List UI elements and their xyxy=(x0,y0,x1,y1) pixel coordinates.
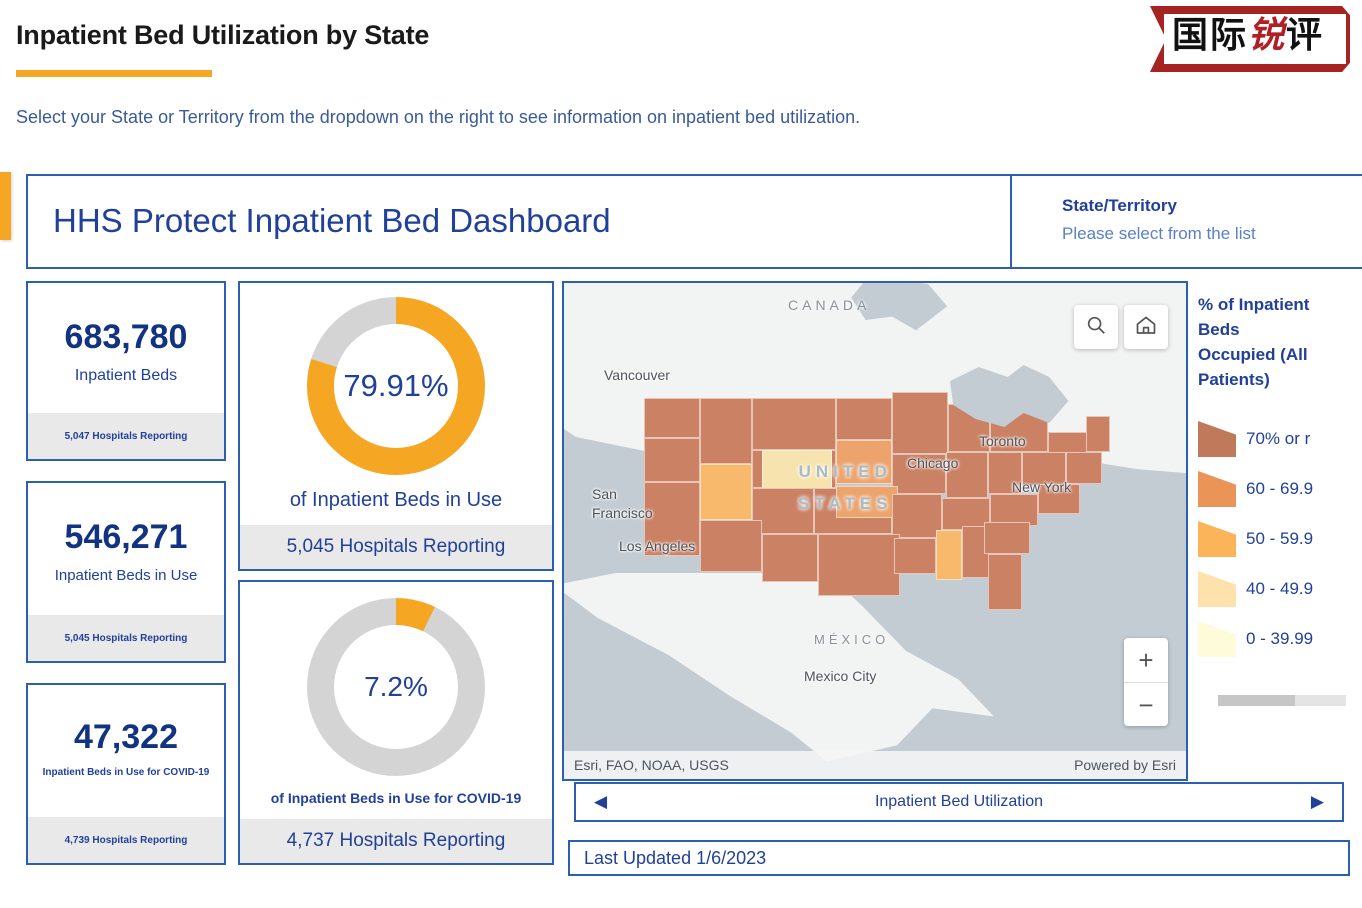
logo-text-accent: 锐 xyxy=(1248,15,1286,56)
state-pa[interactable] xyxy=(1066,452,1102,484)
donut-percent-label: 7.2% xyxy=(364,671,428,703)
state-nd[interactable] xyxy=(836,398,892,440)
map-home-button[interactable] xyxy=(1124,305,1168,349)
legend-swatch-icon xyxy=(1198,571,1236,607)
kpi-card-inpatient-beds: 683,780 Inpatient Beds 5,047 Hospitals R… xyxy=(26,281,226,461)
map-city-los-angeles: Los Angeles xyxy=(619,538,695,554)
kpi-value: 546,271 xyxy=(28,518,224,557)
state-mt[interactable] xyxy=(752,398,836,450)
page-title: Inpatient Bed Utilization by State xyxy=(16,20,429,51)
kpi-footer: 5,045 Hospitals Reporting xyxy=(28,615,224,661)
map-zoom-in-button[interactable]: + xyxy=(1124,638,1168,683)
map-legend: % of Inpatient Beds Occupied (All Patien… xyxy=(1198,292,1356,712)
map-search-button[interactable] xyxy=(1074,305,1118,349)
legend-swatch-icon xyxy=(1198,621,1236,657)
donut-chart: 7.2% xyxy=(307,598,485,776)
state-territory-dropdown[interactable]: State/Territory Please select from the l… xyxy=(1010,174,1362,269)
last-updated-text: Last Updated 1/6/2023 xyxy=(584,848,766,869)
map-attribution-sources: Esri, FAO, NOAA, USGS xyxy=(574,757,729,773)
map-city-san-francisco: San Francisco xyxy=(592,485,653,523)
kpi-footer: 5,047 Hospitals Reporting xyxy=(28,413,224,459)
legend-label: 0 - 39.99 xyxy=(1246,629,1313,649)
logo-text: 国际锐评 xyxy=(1172,16,1324,56)
legend-horizontal-scrollbar[interactable] xyxy=(1218,695,1346,706)
legend-item[interactable]: 70% or r xyxy=(1198,414,1356,464)
title-underline-rule xyxy=(16,70,212,77)
kpi-footer: 4,739 Hospitals Reporting xyxy=(28,817,224,863)
donut-card-beds-in-use: 79.91% of Inpatient Beds in Use 5,045 Ho… xyxy=(238,281,554,571)
donut-hole: 79.91% xyxy=(334,324,458,448)
map-city-new-york: New York xyxy=(1012,479,1071,495)
legend-label: 60 - 69.9 xyxy=(1246,479,1313,499)
logo-text-part1: 国际 xyxy=(1172,15,1248,56)
map-label-united-states: UNITED STATES xyxy=(798,456,893,520)
chevron-left-icon[interactable]: ◀ xyxy=(594,792,607,812)
donut-footer: 4,737 Hospitals Reporting xyxy=(240,819,552,863)
state-tx[interactable] xyxy=(818,534,900,596)
legend-item[interactable]: 0 - 39.99 xyxy=(1198,614,1356,664)
map-city-toronto: Toronto xyxy=(979,433,1026,449)
legend-label: 50 - 59.9 xyxy=(1246,529,1313,549)
page-subtitle: Select your State or Territory from the … xyxy=(16,107,860,128)
donut-card-covid-beds-in-use: 7.2% of Inpatient Beds in Use for COVID-… xyxy=(238,580,554,865)
legend-label: 40 - 49.9 xyxy=(1246,579,1313,599)
state-wa[interactable] xyxy=(644,398,700,438)
map-city-vancouver: Vancouver xyxy=(604,367,670,383)
search-icon xyxy=(1085,314,1107,341)
state-me[interactable] xyxy=(1086,416,1110,452)
state-nc-sc[interactable] xyxy=(984,522,1030,554)
state-territory-value: Please select from the list xyxy=(1062,224,1256,244)
legend-title: % of Inpatient Beds Occupied (All Patien… xyxy=(1198,292,1318,392)
donut-chart: 79.91% xyxy=(307,297,485,475)
legend-item[interactable]: 50 - 59.9 xyxy=(1198,514,1356,564)
legend-swatch-icon xyxy=(1198,521,1236,557)
kpi-value: 683,780 xyxy=(28,318,224,357)
donut-chart-wrap: 7.2% xyxy=(240,598,552,776)
legend-swatch-icon xyxy=(1198,471,1236,507)
state-id[interactable] xyxy=(700,398,752,464)
legend-swatch-icon xyxy=(1198,421,1236,457)
kpi-value: 47,322 xyxy=(28,718,224,757)
dashboard-header-panel: HHS Protect Inpatient Bed Dashboard Stat… xyxy=(26,174,1362,269)
state-nm[interactable] xyxy=(762,534,818,582)
map-attribution-powered-by: Powered by Esri xyxy=(1074,757,1176,773)
legend-item[interactable]: 40 - 49.9 xyxy=(1198,564,1356,614)
state-ms[interactable] xyxy=(936,530,962,580)
legend-items: 70% or r 60 - 69.9 50 - 59.9 40 - 49.9 0… xyxy=(1198,414,1356,664)
state-ar-la[interactable] xyxy=(894,538,936,574)
kpi-label: Inpatient Beds xyxy=(28,367,224,385)
map-city-chicago: Chicago xyxy=(907,455,958,471)
map-label-mexico: MÉXICO xyxy=(814,632,889,647)
side-accent-tab xyxy=(0,172,11,240)
map-canvas[interactable]: CANADA MÉXICO UNITED STATES Vancouver To… xyxy=(564,283,1186,779)
map-attribution-bar: Esri, FAO, NOAA, USGS Powered by Esri xyxy=(564,751,1186,779)
donut-caption: of Inpatient Beds in Use xyxy=(240,489,552,512)
map-label-us-line1: UNITED xyxy=(799,462,892,481)
kpi-label: Inpatient Beds in Use xyxy=(28,567,224,584)
brand-logo: 国际锐评 xyxy=(1150,6,1350,72)
kpi-card-inpatient-beds-in-use: 546,271 Inpatient Beds in Use 5,045 Hosp… xyxy=(26,481,226,663)
state-nv[interactable] xyxy=(700,464,752,520)
donut-footer: 5,045 Hospitals Reporting xyxy=(240,525,552,569)
map-city-mexico-city: Mexico City xyxy=(804,668,876,684)
legend-scrollbar-thumb[interactable] xyxy=(1218,695,1295,706)
legend-item[interactable]: 60 - 69.9 xyxy=(1198,464,1356,514)
state-az[interactable] xyxy=(700,520,762,572)
map-zoom-out-button[interactable]: − xyxy=(1124,683,1168,727)
state-mo[interactable] xyxy=(892,494,942,538)
map-zoom-control[interactable]: + − xyxy=(1124,638,1168,726)
donut-caption: of Inpatient Beds in Use for COVID-19 xyxy=(240,790,552,806)
map-label-canada: CANADA xyxy=(788,297,870,313)
chevron-right-icon[interactable]: ▶ xyxy=(1311,792,1324,812)
donut-percent-label: 79.91% xyxy=(343,368,448,404)
legend-label: 70% or r xyxy=(1246,429,1310,449)
pager-label: Inpatient Bed Utilization xyxy=(875,793,1043,811)
donut-chart-wrap: 79.91% xyxy=(240,297,552,475)
map-label-us-line2: STATES xyxy=(798,494,893,513)
kpi-label: Inpatient Beds in Use for COVID-19 xyxy=(28,767,224,778)
state-territory-label: State/Territory xyxy=(1062,196,1177,216)
last-updated-bar: Last Updated 1/6/2023 xyxy=(568,840,1350,876)
home-icon xyxy=(1134,313,1158,342)
dashboard-title: HHS Protect Inpatient Bed Dashboard xyxy=(53,202,611,240)
donut-hole: 7.2% xyxy=(334,625,458,749)
dashboard-pager: ◀ Inpatient Bed Utilization ▶ xyxy=(574,782,1344,822)
state-or[interactable] xyxy=(644,438,700,482)
state-fl[interactable] xyxy=(988,554,1022,610)
logo-text-part2: 评 xyxy=(1286,15,1324,56)
map-panel[interactable]: CANADA MÉXICO UNITED STATES Vancouver To… xyxy=(562,281,1188,781)
kpi-card-covid-beds-in-use: 47,322 Inpatient Beds in Use for COVID-1… xyxy=(26,683,226,865)
state-mn[interactable] xyxy=(892,392,948,454)
